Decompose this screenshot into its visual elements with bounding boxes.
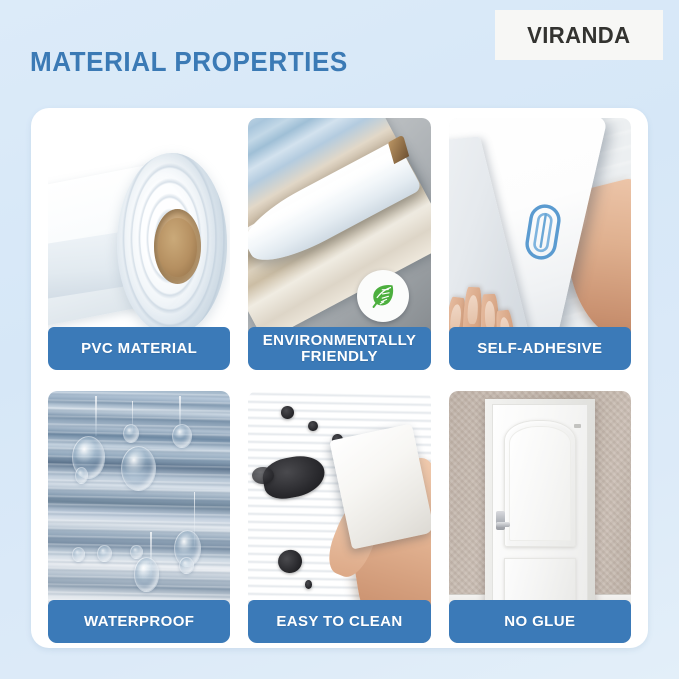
- feature-label-pvc-material: PVC MATERIAL: [48, 327, 230, 370]
- feature-label-self-adhesive: SELF-ADHESIVE: [449, 327, 631, 370]
- feature-card-waterproof[interactable]: WATERPROOF: [48, 391, 230, 643]
- brand-logo-box: VIRANDA: [495, 10, 663, 60]
- feature-label-waterproof: WATERPROOF: [48, 600, 230, 643]
- page-title: MATERIAL PROPERTIES: [30, 46, 348, 78]
- header: MATERIAL PROPERTIES VIRANDA: [0, 0, 679, 108]
- feature-label-easy-to-clean: EASY TO CLEAN: [248, 600, 430, 643]
- leaf-icon: [357, 270, 409, 322]
- brand-name: VIRANDA: [527, 22, 630, 49]
- feature-panel: PVC MATERIAL: [31, 108, 648, 648]
- feature-card-no-glue[interactable]: NO GLUE: [449, 391, 631, 643]
- feature-card-self-adhesive[interactable]: SELF-ADHESIVE: [449, 118, 631, 370]
- feature-card-environmentally-friendly[interactable]: ENVIRONMENTALLY FRIENDLY: [248, 118, 430, 370]
- feature-card-easy-to-clean[interactable]: EASY TO CLEAN: [248, 391, 430, 643]
- feature-card-pvc-material[interactable]: PVC MATERIAL: [48, 118, 230, 370]
- feature-label-environmentally-friendly: ENVIRONMENTALLY FRIENDLY: [248, 327, 430, 370]
- infographic-page: MATERIAL PROPERTIES VIRANDA PVC MATERIAL: [0, 0, 679, 679]
- feature-label-no-glue: NO GLUE: [449, 600, 631, 643]
- feature-grid: PVC MATERIAL: [48, 118, 631, 643]
